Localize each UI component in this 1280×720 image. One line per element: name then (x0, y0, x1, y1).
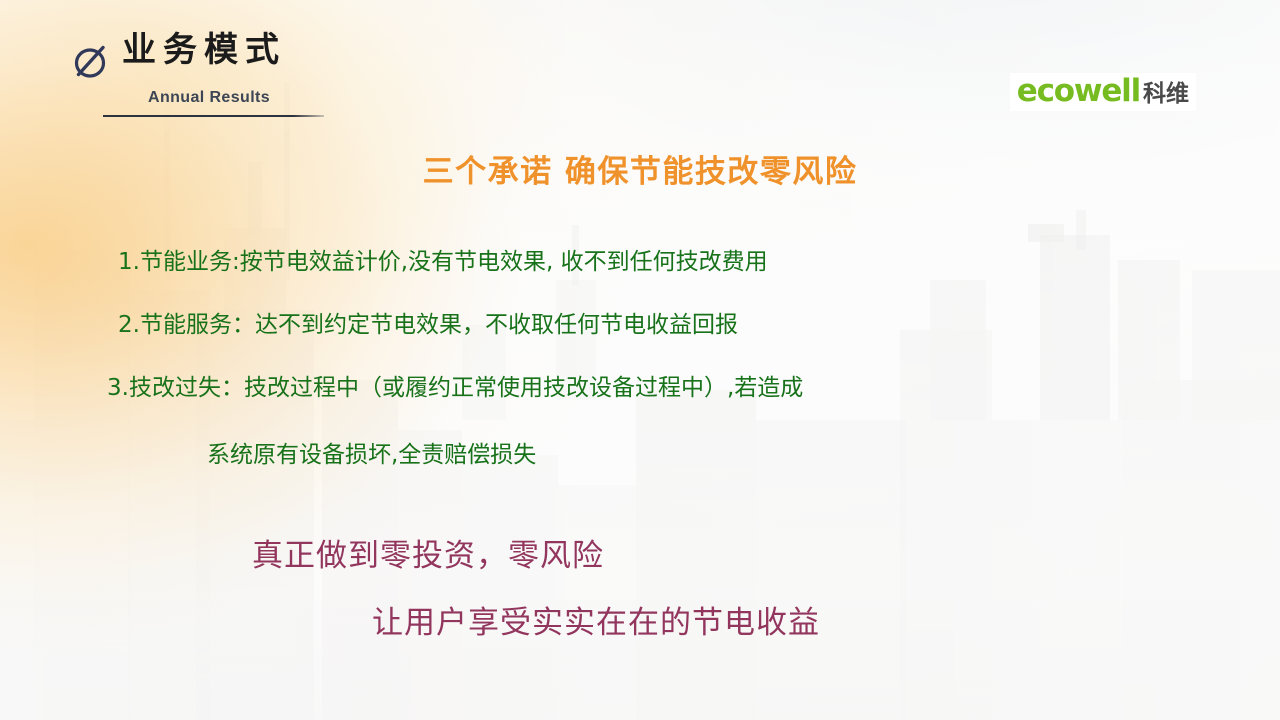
brand-logo-english: ecowell (1017, 76, 1140, 107)
list-item: 2.节能服务：达不到约定节电效果，不收取任何节电收益回报 (118, 305, 738, 339)
presentation-slide: 业务模式 Annual Results ecowell 科维 三个承诺 确保节能… (0, 0, 1280, 720)
list-item: 1.节能业务:按节电效益计价,没有节电效果, 收不到任何技改费用 (118, 242, 768, 276)
footer-tagline-secondary: 让用户享受实实在在的节电收益 (372, 597, 820, 642)
footer-tagline-primary: 真正做到零投资，零风险 (252, 530, 604, 575)
list-item-continuation: 系统原有设备损坏,全责赔偿损失 (207, 435, 536, 469)
list-item: 3.技改过失：技改过程中（或履约正常使用技改设备过程中）,若造成 (107, 368, 803, 402)
page-subtitle: Annual Results (148, 89, 270, 107)
brand-logo-chinese: 科维 (1143, 83, 1189, 106)
header-divider (103, 115, 324, 117)
slide-heading: 三个承诺 确保节能技改零风险 (0, 146, 1280, 191)
brand-logo: ecowell 科维 (1010, 73, 1196, 111)
null-circle-icon (70, 39, 114, 83)
page-title: 业务模式 (122, 33, 286, 67)
